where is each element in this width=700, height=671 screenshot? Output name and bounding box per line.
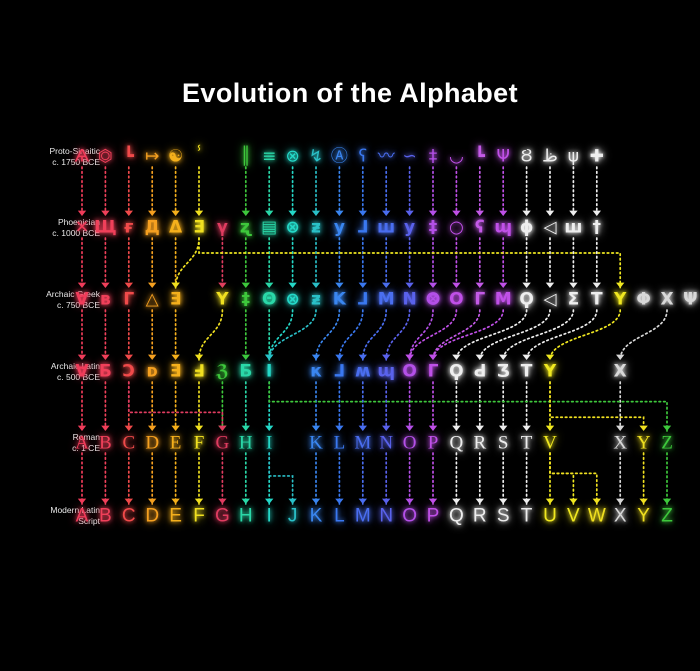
glyph: Щ (94, 220, 117, 237)
glyph: Γ (428, 364, 439, 381)
glyph: Ǝ (170, 292, 182, 309)
page-title: Evolution of the Alphabet (0, 78, 700, 109)
arrow-head (476, 211, 484, 216)
arrow-head (171, 211, 179, 216)
glyph: P (428, 434, 439, 453)
descent-line (410, 310, 457, 360)
arrow-head (405, 283, 413, 288)
arrow-head (546, 355, 554, 360)
descent-line (176, 238, 199, 288)
glyph: ᴅ (146, 364, 158, 381)
glyph: ɰ (494, 220, 512, 237)
glyph: Q (449, 507, 464, 526)
arrow-head (359, 355, 367, 360)
descent-line (199, 310, 222, 360)
arrow-head (382, 499, 390, 504)
arrow-head (616, 426, 624, 431)
glyph: P (427, 507, 440, 526)
arrow-head (569, 211, 577, 216)
arrow-head (522, 426, 530, 431)
descent-line (433, 310, 503, 360)
glyph: ʕ (475, 220, 485, 237)
arrow-head (78, 355, 86, 360)
glyph: Υ (216, 292, 228, 309)
arrow-head (335, 283, 343, 288)
glyph: ║ (241, 149, 251, 166)
arrow-head (101, 426, 109, 431)
arrow-head (312, 426, 320, 431)
glyph: Υ (614, 292, 626, 309)
glyph: Ϙ (449, 364, 463, 381)
arrow-head (265, 355, 273, 360)
glyph: к (310, 364, 322, 381)
arrow-head (639, 499, 647, 504)
glyph: Z (661, 434, 673, 453)
glyph: R (473, 434, 486, 453)
arrow-head (335, 211, 343, 216)
glyph: M (354, 434, 371, 453)
glyph: 〰 (378, 149, 395, 166)
glyph: ʙ (100, 292, 111, 309)
descent-line (269, 453, 292, 504)
glyph: U (543, 507, 557, 526)
glyph: ℨ (216, 364, 229, 381)
alphabet-evolution-infographic: Evolution of the Alphabet Proto-Sinaitic… (0, 0, 700, 671)
glyph: Ο (402, 364, 416, 381)
arrow-head (218, 426, 226, 431)
arrow-head (171, 426, 179, 431)
glyph: ↦ (145, 149, 159, 166)
arrow-head (593, 499, 601, 504)
descent-line (269, 310, 292, 360)
glyph: Χ (660, 292, 673, 309)
arrow-head (452, 283, 460, 288)
arrow-head (499, 426, 507, 431)
glyph: Ʒ (497, 364, 510, 381)
arrow-head (148, 355, 156, 360)
glyph: Ψ (496, 149, 509, 166)
arrow-head (78, 499, 86, 504)
glyph: Ǝ (170, 364, 182, 381)
descent-line (620, 310, 667, 360)
glyph: ◁ (543, 292, 556, 309)
arrow-head (429, 283, 437, 288)
glyph: ‡ (429, 149, 438, 166)
arrow-head (499, 499, 507, 504)
arrow-head (359, 283, 367, 288)
glyph: І (266, 364, 272, 381)
arrow-head (639, 426, 647, 431)
descent-line (550, 382, 644, 431)
arrow-head (148, 426, 156, 431)
arrow-head (569, 283, 577, 288)
glyph: Ϙ (519, 292, 533, 309)
glyph: ⨷ (426, 292, 439, 309)
glyph: ┗ (475, 149, 485, 166)
arrow-head (242, 499, 250, 504)
glyph: T (521, 507, 533, 526)
glyph: ⅃ (334, 364, 345, 381)
glyph: T (521, 434, 533, 453)
glyph: Z (661, 507, 673, 526)
glyph: I (266, 434, 272, 453)
arrow-head (405, 426, 413, 431)
glyph: ƶ (311, 220, 321, 237)
glyph: A (76, 507, 89, 526)
glyph: Ȣ (521, 149, 533, 166)
arrow-head (429, 499, 437, 504)
arrow-head (382, 426, 390, 431)
glyph: B (99, 434, 112, 453)
glyph: у (334, 220, 345, 237)
arrow-head (359, 499, 367, 504)
glyph: L (334, 507, 345, 526)
glyph: ⊗ (285, 149, 299, 166)
glyph: C (122, 434, 135, 453)
arrow-head (125, 499, 133, 504)
glyph: ү (217, 220, 228, 237)
glyph: Ɔ (123, 364, 135, 381)
glyph: ◁ (543, 220, 556, 237)
glyph: ┗ (124, 149, 134, 166)
glyph: ɰ (377, 364, 395, 381)
glyph: Б (239, 364, 252, 381)
arrow-head (242, 426, 250, 431)
glyph: Τ (591, 292, 603, 309)
glyph: N (379, 507, 393, 526)
glyph: N (379, 434, 393, 453)
descent-line (433, 310, 480, 360)
arrow-head (476, 426, 484, 431)
arrow-head (616, 355, 624, 360)
row-label-name: Archaic Greek (46, 289, 100, 299)
glyph: ⸯ (194, 149, 204, 166)
glyph: H (239, 434, 253, 453)
arrow-head (452, 211, 460, 216)
arrow-head (335, 426, 343, 431)
arrow-head (663, 499, 671, 504)
arrow-head (195, 426, 203, 431)
glyph: Ѧ (75, 149, 90, 166)
glyph: ғ (124, 220, 133, 237)
glyph: D (145, 434, 159, 453)
arrow-head (476, 355, 484, 360)
arrow-head (546, 211, 554, 216)
descent-line (386, 310, 409, 360)
arrow-head (242, 355, 250, 360)
glyph: Θ (262, 292, 276, 309)
arrow-head (195, 355, 203, 360)
arrow-head (522, 283, 530, 288)
arrow-head (499, 211, 507, 216)
arrow-head (78, 426, 86, 431)
glyph: S (497, 507, 510, 526)
arrow-head (382, 283, 390, 288)
arrow-head (616, 499, 624, 504)
glyph: H (239, 507, 253, 526)
glyph: Ǝ (193, 220, 205, 237)
glyph: △ (146, 292, 159, 309)
arrow-head (405, 499, 413, 504)
arrow-head (78, 283, 86, 288)
glyph: ʍ (355, 364, 371, 381)
glyph: A (75, 434, 89, 453)
glyph: Ο (449, 292, 463, 309)
descent-line (269, 382, 667, 431)
glyph: ‡ (429, 220, 438, 237)
arrow-head (522, 211, 530, 216)
glyph: G (215, 507, 230, 526)
glyph: V (543, 434, 557, 453)
glyph: ↯ (309, 149, 323, 166)
glyph: Κ (333, 292, 346, 309)
glyph: ш (564, 220, 582, 237)
glyph: ○ (449, 220, 464, 237)
arrow-head (125, 283, 133, 288)
glyph: M (355, 507, 371, 526)
glyph: ⊗ (285, 220, 299, 237)
glyph: Ν (402, 292, 416, 309)
glyph: ⅃ (357, 292, 368, 309)
glyph: W (588, 507, 606, 526)
descent-line (339, 310, 362, 360)
glyph: Y (637, 434, 651, 453)
glyph: X (613, 434, 627, 453)
arrow-head (663, 426, 671, 431)
arrow-head (546, 499, 554, 504)
arrow-head (148, 283, 156, 288)
glyph: Δ (169, 220, 182, 237)
arrow-head (265, 499, 273, 504)
arrow-head (148, 499, 156, 504)
glyph: J (288, 507, 298, 526)
arrow-head (616, 283, 624, 288)
glyph: Ɐ (75, 364, 88, 381)
arrow-head (242, 283, 250, 288)
glyph: V (567, 507, 580, 526)
glyph: ʕ (358, 149, 367, 166)
arrow-head (195, 211, 203, 216)
glyph: Q (450, 434, 464, 453)
glyph: Γ (123, 292, 134, 309)
glyph: ƶ (311, 292, 321, 309)
arrow-head (312, 211, 320, 216)
descent-line (316, 310, 339, 360)
glyph: O (402, 507, 417, 526)
glyph: R (473, 507, 487, 526)
glyph: ψ (568, 149, 579, 166)
arrow-head (452, 499, 460, 504)
arrow-head (522, 499, 530, 504)
arrow-head (452, 355, 460, 360)
glyph: Τ (521, 364, 533, 381)
arrow-head (171, 499, 179, 504)
descent-line (550, 453, 573, 504)
glyph: Ⅎ (193, 364, 205, 381)
arrow-head (218, 499, 226, 504)
arrow-head (429, 211, 437, 216)
glyph: Μ (495, 292, 512, 309)
glyph: F (194, 434, 205, 453)
glyph: E (169, 507, 182, 526)
arrow-head (546, 283, 554, 288)
arrow-head (101, 283, 109, 288)
arrow-head (429, 355, 437, 360)
arrow-head (171, 355, 179, 360)
arrow-head (265, 426, 273, 431)
glyph: L (334, 434, 346, 453)
arrow-head (429, 426, 437, 431)
arrow-head (312, 355, 320, 360)
arrow-head (125, 211, 133, 216)
arrow-head (405, 355, 413, 360)
arrow-head (288, 499, 296, 504)
glyph: ≡ (262, 149, 276, 166)
glyph: S (498, 434, 509, 453)
arrow-head (499, 355, 507, 360)
glyph: G (216, 434, 230, 453)
glyph: ʐ (240, 220, 252, 237)
arrow-head (405, 211, 413, 216)
glyph: X (614, 507, 627, 526)
arrow-head (593, 211, 601, 216)
arrow-head (382, 211, 390, 216)
glyph: Ψ (683, 292, 697, 309)
glyph: ✕ (75, 220, 89, 237)
glyph: I (267, 507, 272, 526)
arrow-head (569, 499, 577, 504)
glyph: B (99, 507, 112, 526)
arrow-head (101, 355, 109, 360)
arrow-head (335, 355, 343, 360)
glyph: у (404, 220, 415, 237)
glyph: ▤ (261, 220, 277, 237)
glyph: ϕ (520, 220, 534, 237)
glyph: ☯ (168, 149, 183, 166)
arrow-head (359, 211, 367, 216)
arrow-head (382, 355, 390, 360)
glyph: Y (637, 507, 650, 526)
arrow-head (476, 283, 484, 288)
glyph: Ⓐ (331, 149, 348, 166)
glyph: Υ (544, 364, 556, 381)
arrow-head (288, 283, 296, 288)
arrow-head (359, 426, 367, 431)
glyph: D (145, 507, 159, 526)
glyph: Γ (474, 292, 485, 309)
glyph: † (593, 220, 602, 237)
arrow-head (452, 426, 460, 431)
glyph: ∽ (402, 149, 416, 166)
arrow-head (312, 499, 320, 504)
arrow-head (125, 426, 133, 431)
arrow-head (312, 283, 320, 288)
glyph: Б (99, 364, 112, 381)
glyph: Ԁ (473, 364, 486, 381)
arrow-head (476, 499, 484, 504)
arrow-head (101, 211, 109, 216)
glyph: K (310, 507, 323, 526)
arrow-head (265, 211, 273, 216)
arrow-head (218, 283, 226, 288)
glyph: F (193, 507, 205, 526)
glyph: E (170, 434, 182, 453)
arrow-head (78, 211, 86, 216)
glyph: ظ (542, 149, 558, 166)
arrow-head (522, 355, 530, 360)
arrow-head (101, 499, 109, 504)
glyph: ◡ (449, 149, 464, 166)
glyph: ⊗ (285, 292, 299, 309)
glyph: Σ (568, 292, 580, 309)
glyph: Ɐ (75, 292, 88, 309)
arrow-head (195, 499, 203, 504)
glyph: ⏣ (98, 149, 113, 166)
arrow-head (125, 355, 133, 360)
glyph: X (614, 364, 627, 381)
glyph: C (122, 507, 136, 526)
glyph: Д (145, 220, 160, 237)
arrow-head (288, 211, 296, 216)
arrow-head (242, 211, 250, 216)
descent-line (410, 310, 433, 360)
glyph: Φ (636, 292, 650, 309)
arrow-head (546, 426, 554, 431)
glyph: O (403, 434, 417, 453)
glyph: K (309, 434, 323, 453)
glyph: ⅃ (357, 220, 368, 237)
glyph: ‡ (242, 292, 251, 309)
glyph: ✚ (590, 149, 604, 166)
arrow-head (265, 283, 273, 288)
arrow-head (499, 283, 507, 288)
arrow-head (148, 211, 156, 216)
arrow-head (593, 283, 601, 288)
arrow-head (171, 283, 179, 288)
glyph: ш (377, 220, 395, 237)
arrow-head (335, 499, 343, 504)
descent-line (363, 310, 386, 360)
descent-line (269, 310, 316, 360)
glyph: Μ (378, 292, 395, 309)
